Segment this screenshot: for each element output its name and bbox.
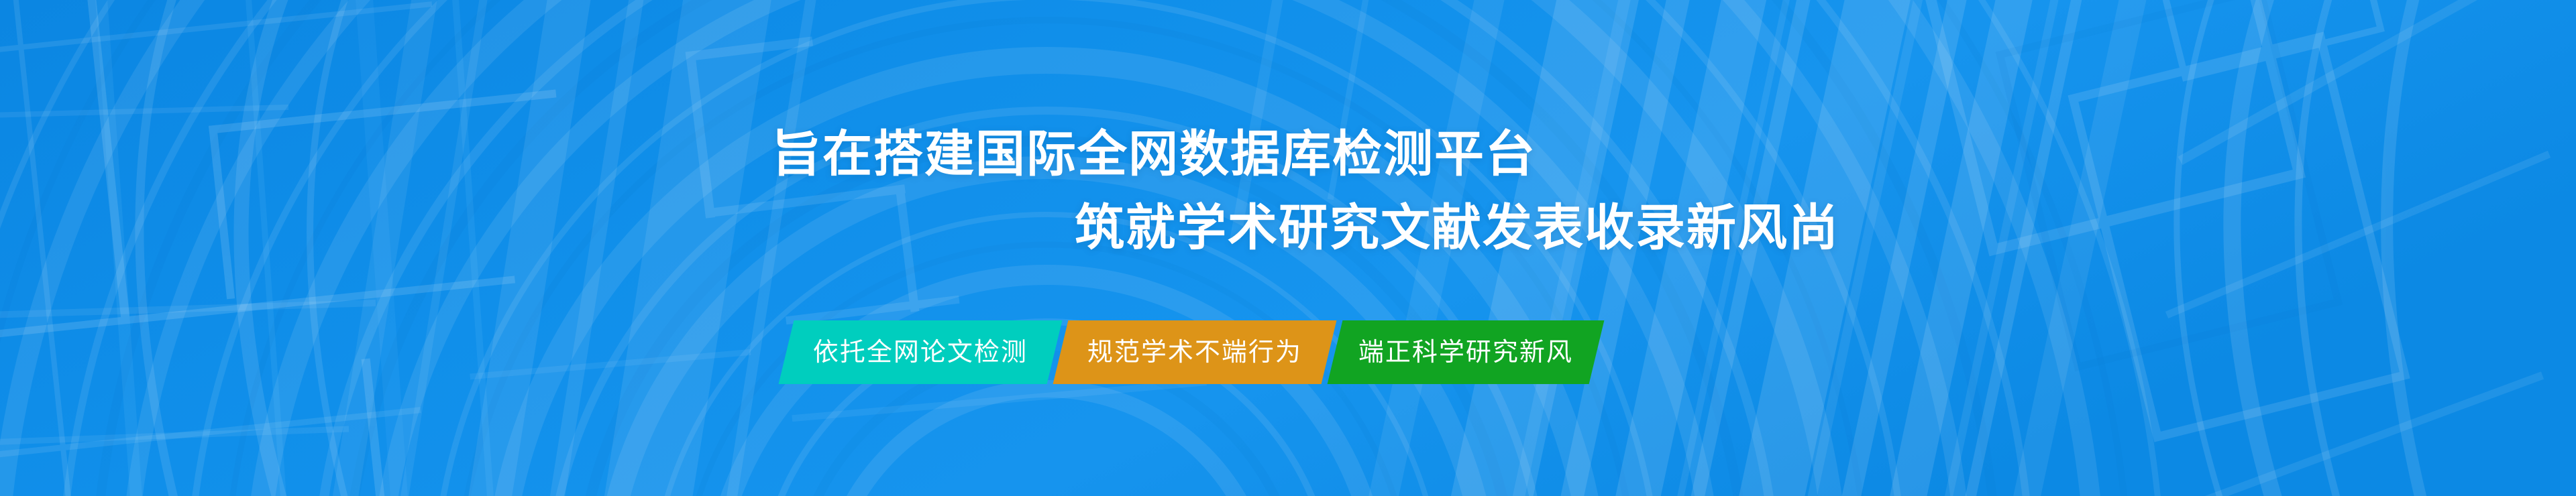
feature-tag-2[interactable]: 端正科学研究新风 xyxy=(1328,320,1605,384)
headline-line-2: 筑就学术研究文献发表收录新风尚 xyxy=(1075,196,1839,260)
feature-tag-2-label: 端正科学研究新风 xyxy=(1358,340,1573,365)
feature-tag-0[interactable]: 依托全网论文检测 xyxy=(779,320,1063,384)
feature-tag-0-label: 依托全网论文检测 xyxy=(813,340,1028,365)
feature-tag-1-label: 规范学术不端行为 xyxy=(1087,340,1302,365)
headline-line-1: 旨在搭建国际全网数据库检测平台 xyxy=(771,122,1536,186)
headline-block: 旨在搭建国际全网数据库检测平台 筑就学术研究文献发表收录新风尚 xyxy=(0,0,2576,496)
feature-tag-strip: 依托全网论文检测 规范学术不端行为 端正科学研究新风 xyxy=(786,320,1597,384)
hero-banner: 旨在搭建国际全网数据库检测平台 筑就学术研究文献发表收录新风尚 依托全网论文检测… xyxy=(0,0,2576,496)
feature-tag-1[interactable]: 规范学术不端行为 xyxy=(1053,320,1337,384)
